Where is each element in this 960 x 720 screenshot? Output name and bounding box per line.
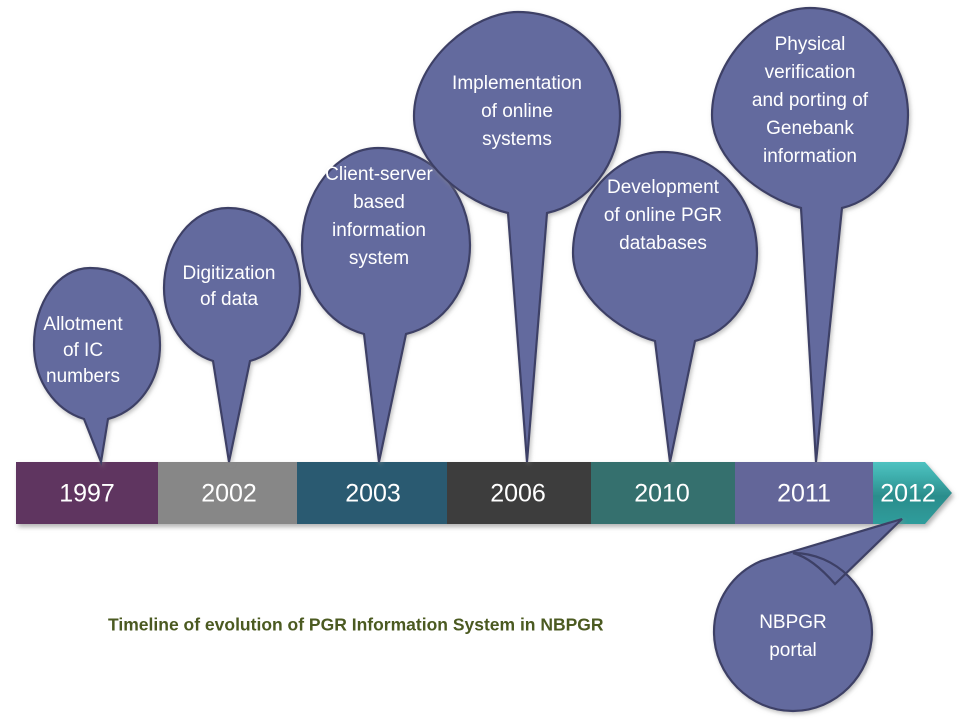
callout-line: Client-server	[325, 164, 433, 185]
callout-line: of data	[200, 289, 259, 310]
segment-year-label: 2003	[345, 480, 401, 508]
timeline-segment-2011[interactable]: 2011	[735, 462, 873, 524]
callout-1997[interactable]: Allotment of IC numbers	[34, 268, 160, 462]
callout-line: and porting of	[752, 90, 869, 111]
callout-2012[interactable]: NBPGR portal	[714, 519, 902, 711]
timeline-diagram-canvas: 1997 2002 2003 2006 2010 2011	[0, 0, 960, 720]
callout-line: verification	[765, 62, 856, 83]
callout-line: Physical	[775, 34, 846, 55]
callout-line: of online PGR	[604, 205, 722, 226]
callout-line: Genebank	[766, 118, 854, 139]
callout-line: databases	[619, 233, 707, 254]
diagram-caption: Timeline of evolution of PGR Information…	[108, 615, 604, 635]
segment-year-label: 1997	[59, 480, 115, 508]
segment-year-label: 2011	[777, 480, 831, 508]
callout-bubble-shape	[34, 268, 160, 462]
callout-bubble-shape	[164, 208, 300, 462]
callout-line: Implementation	[452, 73, 582, 94]
timeline-svg: 1997 2002 2003 2006 2010 2011	[0, 0, 960, 720]
callout-line: based	[353, 192, 405, 213]
callout-line: NBPGR	[759, 612, 827, 633]
callout-line: information	[332, 220, 426, 241]
segment-year-label: 2002	[201, 480, 257, 508]
callout-line: of online	[481, 101, 553, 122]
timeline-segment-2003[interactable]: 2003	[297, 462, 447, 524]
timeline-segment-2006[interactable]: 2006	[447, 462, 591, 524]
callout-line: of IC	[63, 340, 103, 361]
callout-line: information	[763, 146, 857, 167]
timeline-segment-2010[interactable]: 2010	[591, 462, 735, 524]
callout-line: systems	[482, 129, 552, 150]
timeline-segment-2012[interactable]: 2012	[873, 462, 952, 524]
callout-line: portal	[769, 640, 817, 661]
callout-2003[interactable]: Client-server based information system	[302, 148, 470, 462]
segment-year-label: 2012	[880, 480, 936, 508]
timeline-segment-1997[interactable]: 1997	[16, 462, 158, 524]
callout-line: system	[349, 248, 409, 269]
segment-year-label: 2006	[490, 480, 546, 508]
callout-line: numbers	[46, 366, 120, 387]
callout-2010[interactable]: Development of online PGR databases	[573, 152, 757, 462]
callout-bubble-shape	[573, 152, 757, 462]
segment-year-label: 2010	[634, 480, 690, 508]
callout-line: Development	[607, 177, 720, 198]
callout-line: Allotment	[43, 314, 123, 335]
timeline-bar: 1997 2002 2003 2006 2010 2011	[16, 462, 952, 524]
callout-2002[interactable]: Digitization of data	[164, 208, 300, 462]
callout-line: Digitization	[183, 263, 276, 284]
timeline-segment-2002[interactable]: 2002	[158, 462, 297, 524]
